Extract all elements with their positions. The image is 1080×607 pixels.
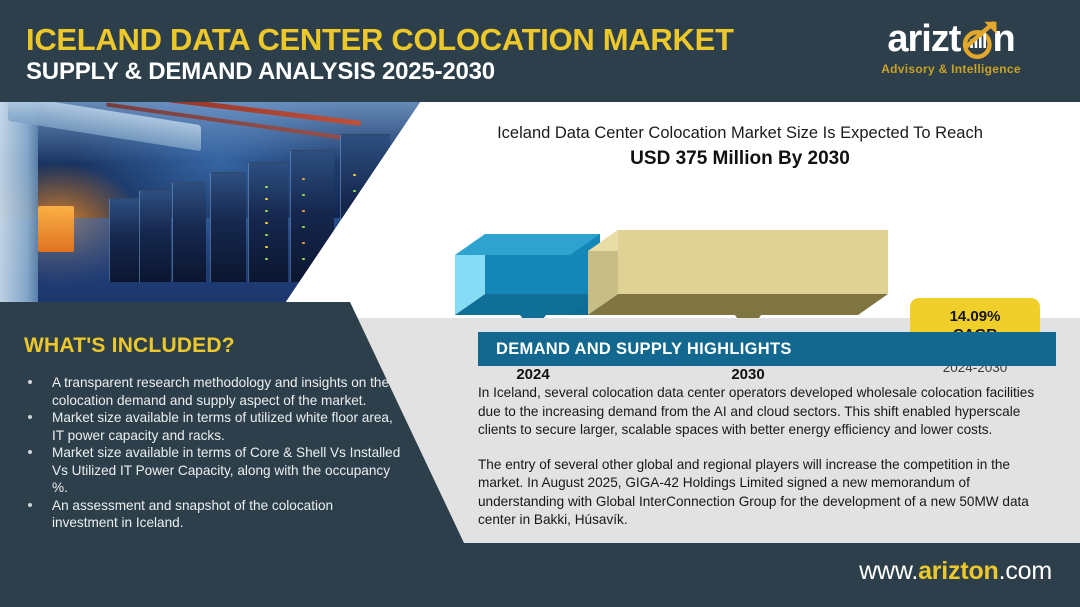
page-footer: www.arizton.com xyxy=(0,543,1080,607)
rising-arrow-icon xyxy=(958,20,1000,62)
page-title: ICELAND DATA CENTER COLOCATION MARKET xyxy=(26,22,734,58)
bullet-dot-icon xyxy=(28,503,32,507)
bar-2030 xyxy=(588,230,888,318)
highlights-section: DEMAND AND SUPPLY HIGHLIGHTS In Iceland,… xyxy=(478,332,1056,530)
cagr-value: 14.09% xyxy=(950,308,1001,326)
url-suffix: .com xyxy=(999,557,1052,585)
list-item-text: A transparent research methodology and i… xyxy=(52,375,389,408)
list-item-text: Market size available in terms of Core &… xyxy=(52,445,400,495)
logo-tagline: Advisory & Intelligence xyxy=(846,62,1056,76)
arizton-logo[interactable]: ariztn Advisory & Intelligence xyxy=(846,16,1056,88)
highlights-title-bar: DEMAND AND SUPPLY HIGHLIGHTS xyxy=(478,332,1056,366)
list-item-text: An assessment and snapshot of the coloca… xyxy=(52,498,333,531)
whats-included-title: WHAT'S INCLUDED? xyxy=(24,334,235,358)
list-item-text: Market size available in terms of utiliz… xyxy=(52,410,393,443)
logo-wordmark: ariztn xyxy=(846,18,1056,60)
url-brand: arizton xyxy=(918,557,999,585)
highlights-paragraph-1: In Iceland, several colocation data cent… xyxy=(478,384,1056,440)
infographic-page: Iceland Data Center Colocation Market Si… xyxy=(0,0,1080,607)
page-header: ICELAND DATA CENTER COLOCATION MARKET SU… xyxy=(0,0,1080,102)
website-url[interactable]: www.arizton.com xyxy=(859,557,1052,586)
bullet-dot-icon xyxy=(28,380,32,384)
list-item: A transparent research methodology and i… xyxy=(22,374,402,409)
list-item: Market size available in terms of utiliz… xyxy=(22,409,402,444)
highlights-title: DEMAND AND SUPPLY HIGHLIGHTS xyxy=(496,340,792,359)
bullet-dot-icon xyxy=(28,415,32,419)
bar-2024 xyxy=(455,234,600,318)
logo-word-part1: arizt xyxy=(887,18,960,60)
list-item: An assessment and snapshot of the coloca… xyxy=(22,497,402,532)
list-item: Market size available in terms of Core &… xyxy=(22,444,402,497)
url-prefix: www. xyxy=(859,557,918,585)
page-subtitle: SUPPLY & DEMAND ANALYSIS 2025-2030 xyxy=(26,58,495,86)
highlights-paragraph-2: The entry of several other global and re… xyxy=(478,456,1056,530)
whats-included-list: A transparent research methodology and i… xyxy=(22,374,402,532)
bullet-dot-icon xyxy=(28,450,32,454)
